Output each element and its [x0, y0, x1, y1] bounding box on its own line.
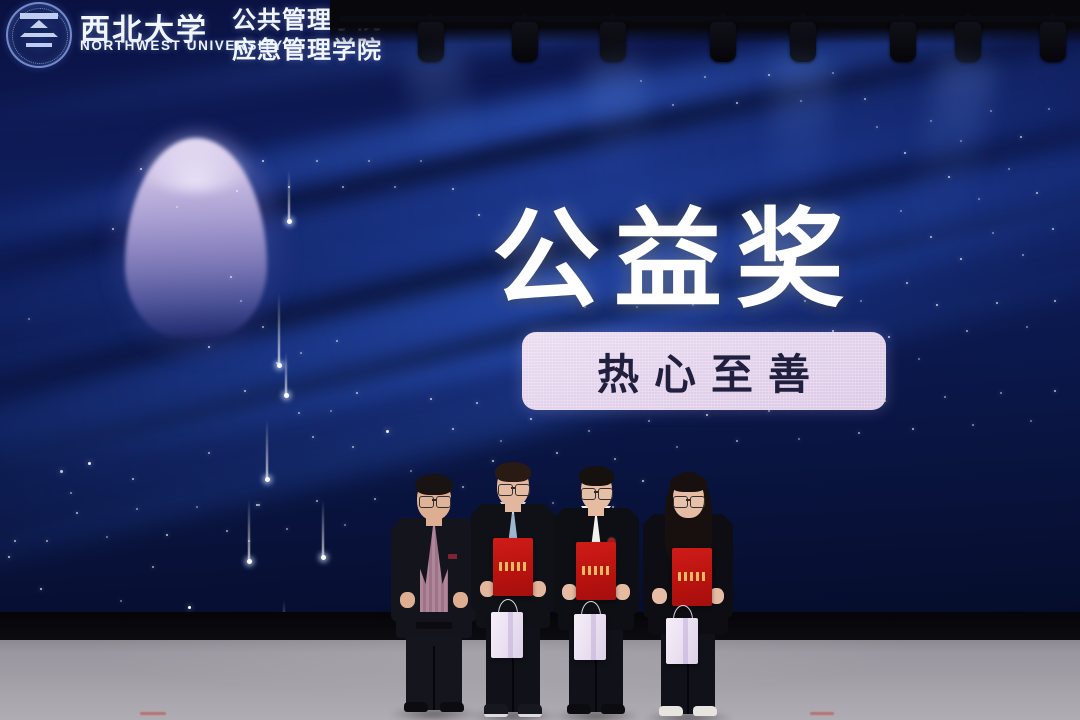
- star: [226, 530, 228, 532]
- meteor-streak: [322, 500, 324, 558]
- star: [1022, 254, 1024, 256]
- stage-photo: 公益奖 热心至善 西北大学 NORTHWEST UNIVERSITY 公共管理学…: [0, 0, 1080, 720]
- star: [344, 524, 346, 526]
- seal-bar: [25, 28, 53, 33]
- star: [136, 508, 138, 510]
- shoe: [693, 706, 717, 716]
- shoe: [601, 704, 625, 714]
- star: [262, 160, 264, 162]
- stage-light[interactable]: [600, 22, 626, 62]
- meteor-head: [247, 559, 252, 564]
- meteor-streak: [278, 292, 280, 366]
- star: [768, 410, 770, 412]
- star: [832, 72, 834, 74]
- star: [244, 390, 246, 392]
- stage-light[interactable]: [1040, 22, 1066, 62]
- star: [768, 74, 770, 76]
- star: [112, 228, 114, 230]
- meteor-head: [277, 363, 282, 368]
- star: [918, 358, 920, 360]
- star: [1036, 192, 1038, 194]
- star: [972, 424, 974, 426]
- star: [944, 396, 946, 398]
- award-title: 公益奖: [492, 196, 912, 326]
- star: [420, 160, 422, 162]
- star: [166, 534, 168, 536]
- hair-fringe: [670, 474, 707, 492]
- star: [1020, 136, 1022, 138]
- star: [258, 504, 260, 506]
- meteor-streak: [283, 600, 285, 612]
- glasses-bridge: [511, 487, 515, 489]
- stage-light[interactable]: [890, 22, 916, 62]
- eyeglasses-icon: [515, 484, 530, 496]
- eyeglasses-icon: [598, 488, 613, 500]
- meteor-head: [265, 477, 270, 482]
- star: [152, 566, 154, 568]
- star: [132, 478, 134, 480]
- star: [208, 346, 210, 348]
- meteor-streak: [288, 170, 290, 222]
- star: [966, 330, 968, 332]
- subtitle-banner: 热心至善: [522, 332, 886, 410]
- hand-right: [531, 581, 546, 597]
- star: [106, 536, 108, 538]
- star: [356, 392, 358, 394]
- star: [556, 452, 558, 454]
- star: [864, 98, 866, 100]
- star: [676, 446, 678, 448]
- stage-light[interactable]: [790, 22, 816, 62]
- star: [430, 398, 432, 400]
- moon-highlight: [137, 134, 253, 192]
- star: [990, 110, 992, 112]
- star: [588, 430, 590, 432]
- star: [368, 160, 370, 162]
- star: [120, 600, 122, 602]
- star: [196, 506, 198, 508]
- star: [996, 302, 998, 304]
- star: [312, 436, 314, 438]
- star: [1054, 390, 1056, 392]
- star: [374, 498, 376, 500]
- star: [28, 318, 30, 320]
- star: [912, 428, 914, 430]
- star: [1008, 168, 1010, 170]
- star: [316, 160, 318, 162]
- star: [552, 502, 554, 504]
- stage-light[interactable]: [512, 22, 538, 62]
- star: [798, 438, 800, 440]
- meteor-streak: [248, 498, 250, 562]
- hand-left: [652, 588, 667, 604]
- meteor-head: [287, 219, 292, 224]
- subtitle-text: 热心至善: [583, 341, 825, 402]
- star: [672, 104, 674, 106]
- star: [978, 198, 980, 200]
- star: [614, 458, 616, 460]
- star: [140, 168, 142, 170]
- gift-bag-stripe: [591, 614, 596, 660]
- star: [316, 500, 318, 502]
- belt: [416, 622, 452, 629]
- star: [330, 410, 332, 412]
- star: [500, 440, 502, 442]
- star: [8, 556, 10, 558]
- certificate-gold-text: [678, 572, 706, 581]
- eyeglasses-icon: [436, 496, 451, 508]
- star: [462, 486, 464, 488]
- eyeglasses-icon: [498, 484, 513, 496]
- star: [992, 232, 994, 234]
- leg-gap: [433, 646, 435, 710]
- star: [476, 402, 478, 404]
- star: [40, 588, 42, 590]
- light-beam: [586, 56, 652, 212]
- star: [76, 512, 78, 514]
- gift-bag-stripe: [683, 618, 688, 664]
- star: [208, 452, 210, 454]
- star: [1030, 420, 1032, 422]
- star: [70, 492, 72, 494]
- hair: [415, 474, 453, 495]
- glasses-bridge: [594, 491, 598, 493]
- star: [452, 428, 454, 430]
- star: [176, 206, 178, 208]
- star: [888, 336, 890, 338]
- eyeglasses-icon: [690, 496, 705, 508]
- star: [298, 412, 300, 414]
- star: [1000, 392, 1002, 394]
- meteor-head: [321, 555, 326, 560]
- star: [236, 190, 238, 192]
- hand-left: [562, 584, 577, 600]
- meteor-streak: [266, 420, 268, 480]
- star: [342, 186, 344, 188]
- gift-bag-stripe: [508, 612, 513, 658]
- star: [706, 414, 708, 416]
- star: [530, 418, 532, 420]
- star: [704, 76, 706, 78]
- star: [46, 540, 48, 542]
- star: [876, 126, 878, 128]
- shoe: [659, 706, 683, 716]
- shoe: [484, 704, 508, 717]
- floor-mark: [810, 712, 834, 715]
- star: [936, 304, 938, 306]
- star: [452, 188, 454, 190]
- star: [394, 186, 396, 188]
- star: [478, 214, 480, 216]
- star: [14, 540, 16, 542]
- meteor-streak: [285, 352, 287, 396]
- star: [736, 102, 738, 104]
- hand-left: [400, 592, 415, 608]
- hair: [579, 466, 614, 486]
- star: [286, 528, 288, 530]
- shoe: [518, 704, 542, 717]
- star: [1048, 108, 1050, 110]
- star: [300, 352, 302, 354]
- star: [858, 432, 860, 434]
- star: [410, 470, 412, 472]
- shoe: [440, 702, 464, 712]
- stage-light[interactable]: [710, 22, 736, 62]
- star: [1026, 326, 1028, 328]
- star: [240, 300, 242, 302]
- star: [648, 420, 650, 422]
- hand-right: [615, 584, 630, 600]
- star: [256, 504, 258, 506]
- certificate-gold-text: [499, 562, 527, 571]
- star: [960, 258, 962, 260]
- hand-right: [453, 592, 468, 608]
- star: [736, 440, 738, 442]
- shoe: [567, 704, 591, 714]
- star: [188, 606, 191, 609]
- star: [352, 446, 354, 448]
- glasses-bridge: [686, 499, 690, 501]
- star: [262, 326, 264, 328]
- star: [1052, 228, 1054, 230]
- certificate-gold-text: [582, 566, 610, 575]
- eyeglasses-icon: [581, 488, 596, 500]
- glasses-bridge: [432, 499, 436, 501]
- meteor-head: [284, 393, 289, 398]
- shoe: [404, 702, 428, 712]
- star: [88, 462, 91, 465]
- eyeglasses-icon: [673, 496, 688, 508]
- star: [386, 430, 389, 433]
- floor-mark: [140, 712, 166, 715]
- eyeglasses-icon: [419, 496, 434, 508]
- university-seal-icon: [6, 2, 72, 68]
- star: [904, 152, 906, 154]
- hair: [495, 462, 531, 482]
- star: [230, 276, 232, 278]
- star: [642, 480, 644, 482]
- star: [60, 470, 63, 473]
- star: [1054, 300, 1056, 302]
- star: [336, 340, 338, 342]
- star: [492, 460, 494, 462]
